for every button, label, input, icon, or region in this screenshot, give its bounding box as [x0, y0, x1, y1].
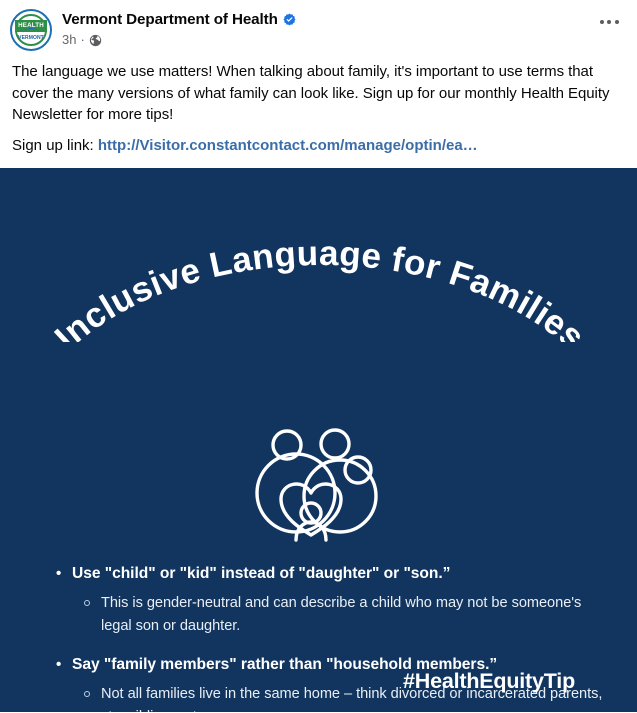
meta-separator: ·: [80, 32, 84, 48]
hollow-bullet-marker: [84, 592, 101, 606]
tip-item: • Use "child" or "kid" instead of "daugh…: [56, 563, 609, 638]
graphic-title: Inclusive Language for Families: [48, 234, 593, 342]
signup-link[interactable]: http://Visitor.constantcontact.com/manag…: [98, 137, 478, 154]
tip-detail: This is gender-neutral and can describe …: [101, 592, 609, 638]
tip-heading: Use "child" or "kid" instead of "daughte…: [72, 563, 450, 585]
post-header-text: Vermont Department of Health 3h ·: [62, 9, 625, 48]
page-name[interactable]: Vermont Department of Health: [62, 10, 278, 29]
post-image-graphic[interactable]: Inclusive Language for Families • Use "c…: [0, 168, 637, 712]
family-group-icon: [243, 423, 393, 543]
link-prefix: Sign up link:: [12, 137, 98, 154]
post-link-line: Sign up link: http://Visitor.constantcon…: [12, 135, 625, 169]
graphic-title-arc: Inclusive Language for Families: [0, 182, 637, 342]
post-meta-row: 3h ·: [62, 32, 625, 48]
hashtag-label: #HealthEquityTip: [403, 669, 575, 694]
bullet-marker: •: [56, 654, 72, 676]
tip-detail-row: This is gender-neutral and can describe …: [84, 592, 609, 638]
avatar[interactable]: HEALTH VERMONT: [10, 9, 52, 51]
post-message: The language we use matters! When talkin…: [12, 61, 625, 126]
ellipsis-dot: [615, 20, 619, 24]
facebook-post: HEALTH VERMONT Vermont Department of Hea…: [0, 0, 637, 168]
ellipsis-dot: [600, 20, 604, 24]
tip-heading-row: • Use "child" or "kid" instead of "daugh…: [56, 563, 609, 585]
page-name-row: Vermont Department of Health: [62, 10, 625, 29]
hollow-bullet-marker: [84, 683, 101, 697]
post-header: HEALTH VERMONT Vermont Department of Hea…: [0, 0, 637, 51]
globe-icon[interactable]: [89, 34, 102, 47]
avatar-mountain-icon: [23, 28, 39, 34]
post-more-options-button[interactable]: [595, 14, 623, 30]
bullet-marker: •: [56, 563, 72, 585]
verified-badge-icon: [283, 13, 296, 26]
avatar-vermont-label: VERMONT: [12, 35, 50, 41]
ellipsis-dot: [607, 20, 611, 24]
post-body: The language we use matters! When talkin…: [0, 51, 637, 168]
post-timestamp[interactable]: 3h: [62, 32, 76, 48]
